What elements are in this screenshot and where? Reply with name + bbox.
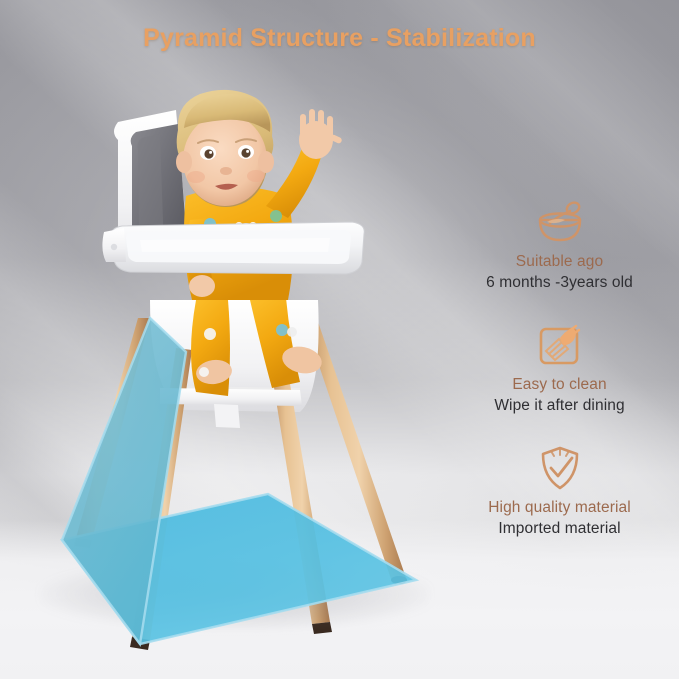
shield-check-icon [440, 441, 679, 495]
bowl-with-spoon-icon [440, 195, 679, 249]
feature-item: High quality material Imported material [440, 441, 679, 538]
chair-tray [102, 222, 364, 274]
feature-subtitle: 6 months -3years old [440, 274, 679, 292]
feature-title: High quality material [440, 499, 679, 517]
feature-item: Easy to clean Wipe it after dining [440, 318, 679, 415]
feature-subtitle: Wipe it after dining [440, 397, 679, 415]
feature-subtitle: Imported material [440, 520, 679, 538]
baby-hand [299, 109, 343, 159]
chair-floor-shadow [40, 560, 430, 630]
chair-seat-front [183, 272, 303, 320]
feature-title: Suitable ago [440, 253, 679, 271]
feature-item: Suitable ago 6 months -3years old [440, 195, 679, 292]
feature-title: Easy to clean [440, 376, 679, 394]
chair-leg-rear-left [74, 318, 150, 548]
product-marketing-image: Pyramid Structure - Stabilization [0, 0, 679, 679]
wipe-cloth-icon [440, 318, 679, 372]
product-photo [0, 0, 460, 679]
feature-list: Suitable ago 6 months -3years old Easy t… [440, 195, 679, 564]
